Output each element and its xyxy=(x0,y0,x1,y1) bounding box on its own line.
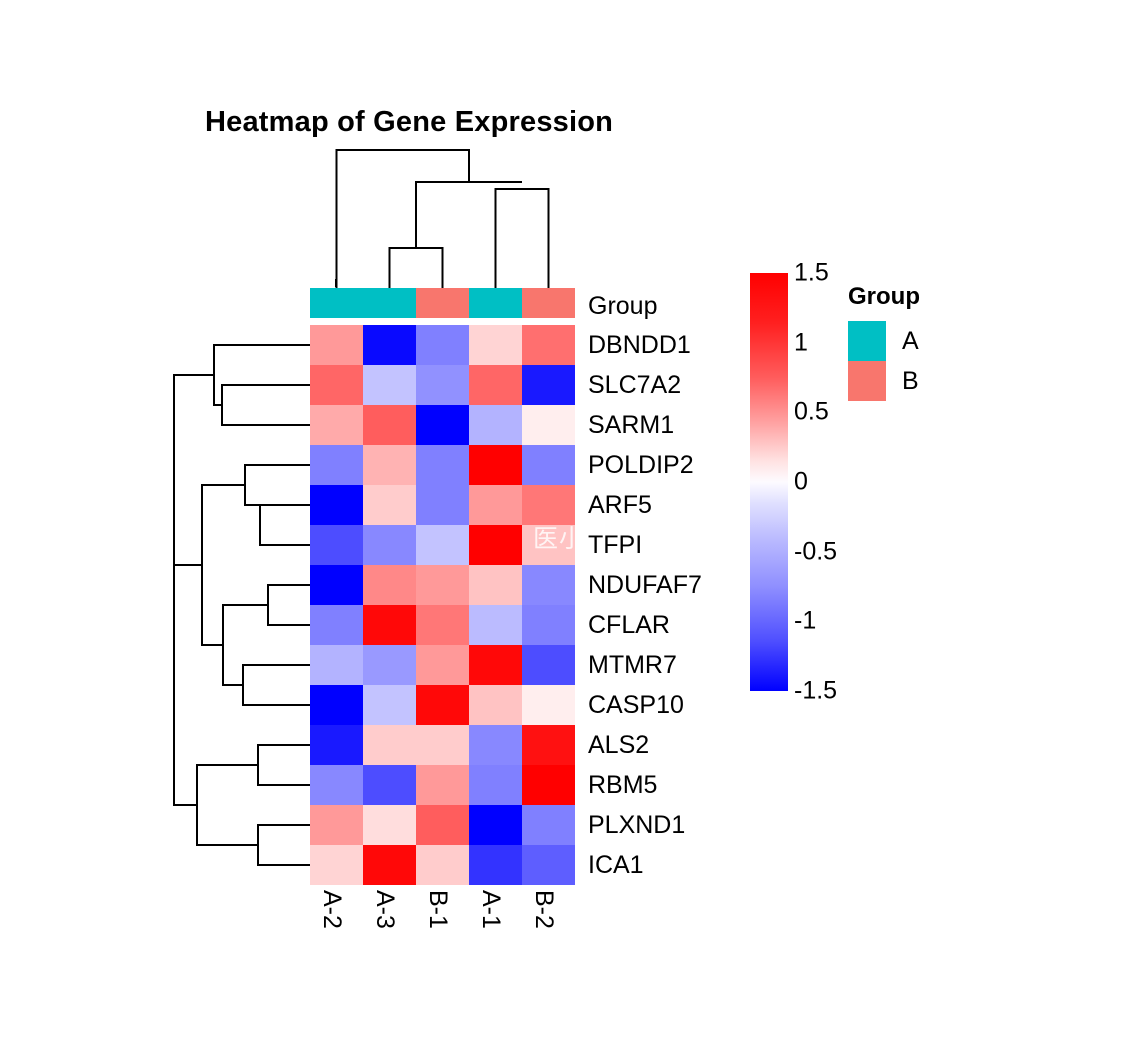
group-legend: Group AB xyxy=(848,283,920,401)
heatmap-cell-TFPI-A-2 xyxy=(310,525,363,565)
heatmap-cell-NDUFAF7-A-2 xyxy=(310,565,363,605)
heatmap-cell-MTMR7-A-2 xyxy=(310,645,363,685)
group-legend-swatch-B xyxy=(848,361,886,401)
heatmap-cell-ARF5-A-1 xyxy=(469,485,522,525)
annotation-cell-B-2 xyxy=(522,288,575,318)
heatmap-cell-ALS2-A-1 xyxy=(469,725,522,765)
heatmap-cell-TFPI-B-2 xyxy=(522,525,575,565)
heatmap-row xyxy=(310,845,575,885)
heatmap-row xyxy=(310,565,575,605)
annotation-cell-B-1 xyxy=(416,288,469,318)
heatmap-cell-PLXND1-B-1 xyxy=(416,805,469,845)
row-label-ALS2: ALS2 xyxy=(588,725,838,765)
heatmap-row xyxy=(310,645,575,685)
heatmap-cell-SLC7A2-A-2 xyxy=(310,365,363,405)
colorbar-tick-neg1: -1 xyxy=(794,609,816,634)
row-label-PLXND1: PLXND1 xyxy=(588,805,838,845)
heatmap-cell-CASP10-A-2 xyxy=(310,685,363,725)
heatmap-cell-ICA1-A-1 xyxy=(469,845,522,885)
heatmap-cell-DBNDD1-A-2 xyxy=(310,325,363,365)
heatmap-cell-ICA1-A-2 xyxy=(310,845,363,885)
group-legend-label-A: A xyxy=(902,327,919,356)
heatmap-cell-ARF5-A-2 xyxy=(310,485,363,525)
row-dendrogram xyxy=(165,325,310,885)
annotation-cell-A-2 xyxy=(310,288,363,318)
heatmap-cell-ICA1-A-3 xyxy=(363,845,416,885)
heatmap-cell-RBM5-A-2 xyxy=(310,765,363,805)
heatmap-cell-ICA1-B-2 xyxy=(522,845,575,885)
heatmap-cell-CFLAR-A-3 xyxy=(363,605,416,645)
heatmap-cell-MTMR7-B-1 xyxy=(416,645,469,685)
heatmap-row xyxy=(310,485,575,525)
heatmap-cell-CFLAR-A-2 xyxy=(310,605,363,645)
heatmap-row xyxy=(310,765,575,805)
column-label-B-2: B-2 xyxy=(529,890,558,930)
heatmap-cell-NDUFAF7-B-1 xyxy=(416,565,469,605)
group-legend-title: Group xyxy=(848,283,920,311)
heatmap-cell-ALS2-B-1 xyxy=(416,725,469,765)
heatmap-row xyxy=(310,445,575,485)
heatmap-cell-CASP10-A-1 xyxy=(469,685,522,725)
heatmap-cell-SLC7A2-A-3 xyxy=(363,365,416,405)
heatmap-cell-SLC7A2-B-1 xyxy=(416,365,469,405)
heatmap-cell-CFLAR-B-2 xyxy=(522,605,575,645)
heatmap-cell-ALS2-A-3 xyxy=(363,725,416,765)
heatmap-grid xyxy=(310,325,575,885)
group-legend-label-B: B xyxy=(902,367,919,396)
heatmap-cell-CASP10-B-1 xyxy=(416,685,469,725)
heatmap-cell-DBNDD1-A-3 xyxy=(363,325,416,365)
heatmap-cell-ARF5-B-2 xyxy=(522,485,575,525)
heatmap-cell-SARM1-B-2 xyxy=(522,405,575,445)
heatmap-row xyxy=(310,725,575,765)
heatmap-cell-ARF5-A-3 xyxy=(363,485,416,525)
heatmap-row xyxy=(310,685,575,725)
heatmap-cell-CFLAR-B-1 xyxy=(416,605,469,645)
colorbar-tick-0: 0 xyxy=(794,470,808,495)
colorbar-tick-1_5: 1.5 xyxy=(794,261,829,286)
colorbar-tick-neg0_5: -0.5 xyxy=(794,539,837,564)
heatmap-cell-SLC7A2-A-1 xyxy=(469,365,522,405)
heatmap-cell-NDUFAF7-A-1 xyxy=(469,565,522,605)
colorbar-tick-neg1_5: -1.5 xyxy=(794,679,837,704)
heatmap-cell-PLXND1-A-1 xyxy=(469,805,522,845)
column-label-A-2: A-2 xyxy=(317,890,346,930)
column-label-A-3: A-3 xyxy=(370,890,399,930)
group-annotation-bar xyxy=(310,288,575,318)
heatmap-cell-CASP10-B-2 xyxy=(522,685,575,725)
heatmap-cell-POLDIP2-A-3 xyxy=(363,445,416,485)
colorbar-legend: 1.510.50-0.5-1-1.5 xyxy=(750,273,788,691)
heatmap-cell-TFPI-A-1 xyxy=(469,525,522,565)
heatmap-cell-POLDIP2-B-1 xyxy=(416,445,469,485)
heatmap-row xyxy=(310,525,575,565)
heatmap-cell-PLXND1-A-3 xyxy=(363,805,416,845)
heatmap-cell-ALS2-A-2 xyxy=(310,725,363,765)
row-label-RBM5: RBM5 xyxy=(588,765,838,805)
heatmap-cell-ALS2-B-2 xyxy=(522,725,575,765)
heatmap-cell-DBNDD1-A-1 xyxy=(469,325,522,365)
heatmap-row xyxy=(310,365,575,405)
column-label-B-1: B-1 xyxy=(423,890,452,930)
heatmap-row xyxy=(310,605,575,645)
row-label-ICA1: ICA1 xyxy=(588,845,838,885)
heatmap-cell-RBM5-A-3 xyxy=(363,765,416,805)
heatmap-cell-CASP10-A-3 xyxy=(363,685,416,725)
group-legend-swatch-A xyxy=(848,321,886,361)
heatmap-cell-ARF5-B-1 xyxy=(416,485,469,525)
heatmap-cell-POLDIP2-B-2 xyxy=(522,445,575,485)
annotation-row-label: Group xyxy=(588,291,657,321)
heatmap-cell-MTMR7-B-2 xyxy=(522,645,575,685)
heatmap-cell-TFPI-A-3 xyxy=(363,525,416,565)
heatmap-cell-SARM1-A-3 xyxy=(363,405,416,445)
group-legend-item-A: A xyxy=(848,321,920,361)
heatmap-cell-SARM1-A-1 xyxy=(469,405,522,445)
heatmap-cell-ICA1-B-1 xyxy=(416,845,469,885)
heatmap-row xyxy=(310,805,575,845)
heatmap-cell-PLXND1-B-2 xyxy=(522,805,575,845)
heatmap-row xyxy=(310,405,575,445)
heatmap-cell-NDUFAF7-B-2 xyxy=(522,565,575,605)
heatmap-cell-NDUFAF7-A-3 xyxy=(363,565,416,605)
heatmap-cell-DBNDD1-B-2 xyxy=(522,325,575,365)
group-legend-items: AB xyxy=(848,321,920,401)
row-label-NDUFAF7: NDUFAF7 xyxy=(588,565,838,605)
heatmap-cell-PLXND1-A-2 xyxy=(310,805,363,845)
heatmap-cell-RBM5-A-1 xyxy=(469,765,522,805)
group-legend-item-B: B xyxy=(848,361,920,401)
column-dendrogram xyxy=(310,145,575,288)
heatmap-cell-SLC7A2-B-2 xyxy=(522,365,575,405)
heatmap-cell-SARM1-B-1 xyxy=(416,405,469,445)
heatmap-cell-DBNDD1-B-1 xyxy=(416,325,469,365)
heatmap-cell-POLDIP2-A-2 xyxy=(310,445,363,485)
column-label-A-1: A-1 xyxy=(476,890,505,930)
heatmap-cell-SARM1-A-2 xyxy=(310,405,363,445)
colorbar-gradient xyxy=(750,273,788,691)
heatmap-row xyxy=(310,325,575,365)
sample-column-labels: A-2A-3B-1A-1B-2 xyxy=(310,888,575,968)
heatmap-cell-RBM5-B-1 xyxy=(416,765,469,805)
heatmap-cell-TFPI-B-1 xyxy=(416,525,469,565)
annotation-cell-A-1 xyxy=(469,288,522,318)
heatmap-cell-MTMR7-A-3 xyxy=(363,645,416,685)
heatmap-cell-RBM5-B-2 xyxy=(522,765,575,805)
heatmap-cell-CFLAR-A-1 xyxy=(469,605,522,645)
colorbar-tick-0_5: 0.5 xyxy=(794,400,829,425)
heatmap-cell-POLDIP2-A-1 xyxy=(469,445,522,485)
colorbar-tick-1: 1 xyxy=(794,330,808,355)
heatmap-cell-MTMR7-A-1 xyxy=(469,645,522,685)
annotation-cell-A-3 xyxy=(363,288,416,318)
page-title: Heatmap of Gene Expression xyxy=(205,106,613,139)
